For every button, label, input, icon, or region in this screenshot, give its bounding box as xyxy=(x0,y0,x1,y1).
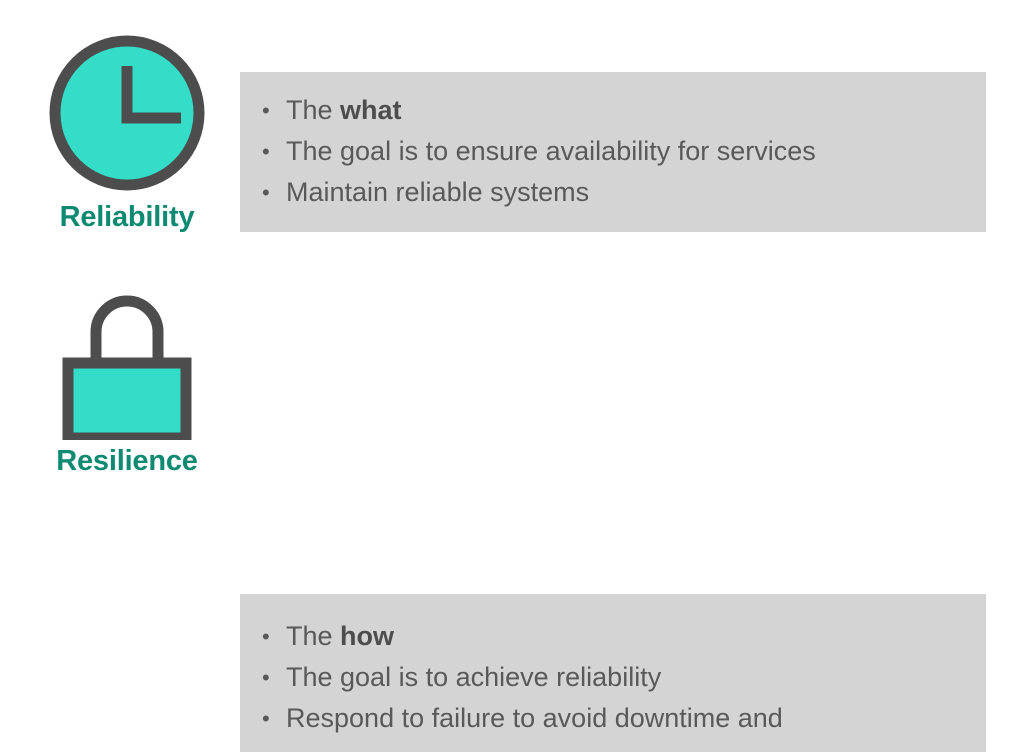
slide-canvas: Reliability The what The goal is to ensu… xyxy=(0,0,1024,544)
reliability-bullet-panel: The what The goal is to ensure availabil… xyxy=(240,72,986,232)
list-item: The goal is to achieve reliability xyxy=(262,657,986,698)
bullet-text: Respond to failure to avoid downtime and xyxy=(286,703,783,733)
clock-icon xyxy=(44,30,210,196)
bullet-text: The xyxy=(286,621,340,651)
bullet-text: The goal is to achieve reliability xyxy=(286,662,661,692)
bullet-text: The xyxy=(286,95,340,125)
resilience-icon-group: Resilience xyxy=(36,280,218,478)
resilience-icon-column: Resilience xyxy=(0,272,240,544)
reliability-bullet-list: The what The goal is to ensure availabil… xyxy=(240,72,986,213)
resilience-bullet-panel: The how The goal is to achieve reliabili… xyxy=(240,594,986,752)
list-item: The goal is to ensure availability for s… xyxy=(262,131,986,172)
reliability-icon-group: Reliability xyxy=(36,30,218,234)
reliability-label: Reliability xyxy=(36,200,218,234)
list-item: The how xyxy=(262,616,986,657)
reliability-icon-column: Reliability xyxy=(0,0,240,272)
section-reliability: Reliability The what The goal is to ensu… xyxy=(0,0,1024,272)
list-item: Respond to failure to avoid downtime and xyxy=(262,698,986,739)
bullet-emphasis: how xyxy=(340,621,394,651)
list-item: The what xyxy=(262,90,986,131)
lock-icon xyxy=(57,280,197,440)
bullet-text: The goal is to ensure availability for s… xyxy=(286,136,816,166)
bullet-text: Maintain reliable systems xyxy=(286,177,589,207)
resilience-label: Resilience xyxy=(36,444,218,478)
resilience-bullet-list: The how The goal is to achieve reliabili… xyxy=(240,594,986,739)
bullet-emphasis: what xyxy=(340,95,402,125)
section-resilience: Resilience The how The goal is to achiev… xyxy=(0,272,1024,544)
list-item: Maintain reliable systems xyxy=(262,172,986,213)
